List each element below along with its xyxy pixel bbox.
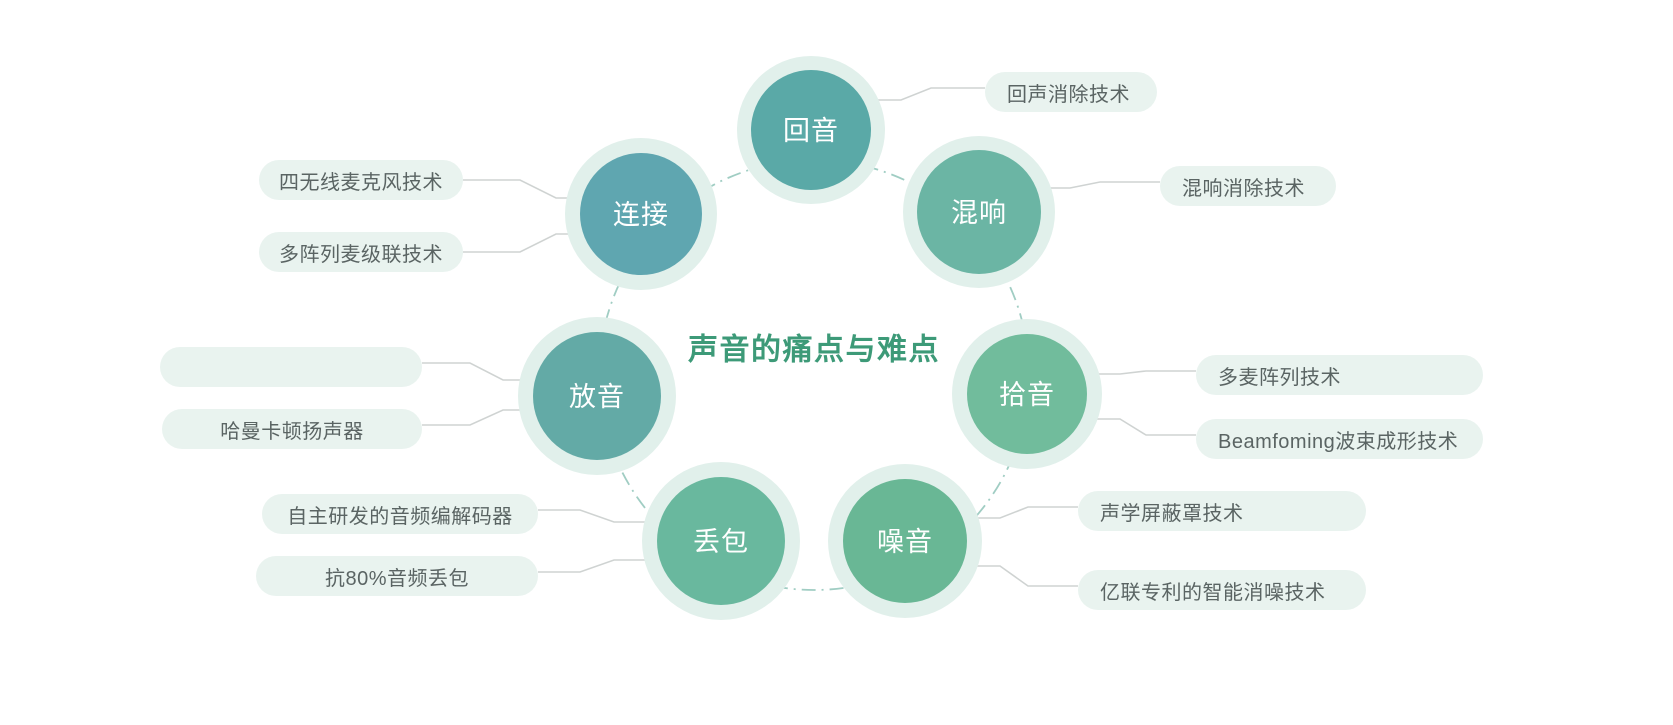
conn-mic-array [1086, 371, 1196, 374]
conn-dereverb [1035, 182, 1160, 188]
conn-multi-array [463, 234, 582, 252]
conn-packet-loss-80 [538, 560, 660, 572]
conn-harman-kardon [422, 410, 536, 425]
node-label-playback: 放音 [569, 382, 625, 412]
node-label-packet-loss: 丢包 [693, 527, 749, 557]
conn-echo-cancel [865, 88, 985, 100]
node-label-connection: 连接 [613, 200, 669, 230]
leaf-label-mic-array[interactable]: 多麦阵列技术 [1196, 355, 1483, 395]
topic-node-playback[interactable]: 放音 [518, 317, 676, 475]
node-label-noise: 噪音 [877, 527, 933, 557]
topic-node-pickup[interactable]: 拾音 [952, 319, 1102, 469]
leaf-label-yealink-denoise[interactable]: 亿联专利的智能消噪技术 [1078, 570, 1366, 610]
diagram-canvas: 回音混响拾音噪音丢包放音连接 声音的痛点与难点 回声消除技术混响消除技术多麦阵列… [0, 0, 1673, 725]
topic-node-connection[interactable]: 连接 [565, 138, 717, 290]
leaf-label-multi-array-cascade[interactable]: 多阵列麦级联技术 [259, 232, 463, 272]
leaf-label-acoustic-shield[interactable]: 声学屏蔽罩技术 [1078, 491, 1366, 531]
leaf-label-echo-cancel[interactable]: 回声消除技术 [985, 72, 1157, 112]
leaf-label-playback-blank[interactable] [160, 347, 422, 387]
topic-node-packet-loss[interactable]: 丢包 [642, 462, 800, 620]
conn-yealink-denoise [966, 566, 1078, 586]
node-label-echo: 回音 [783, 116, 839, 146]
leaf-label-harman-kardon[interactable]: 哈曼卡顿扬声器 [162, 409, 422, 449]
topic-node-echo[interactable]: 回音 [737, 56, 885, 204]
topic-node-noise[interactable]: 噪音 [828, 464, 982, 618]
leaf-label-beamforming[interactable]: Beamfoming波束成形技术 [1196, 419, 1483, 459]
leaf-label-packet-loss-80[interactable]: 抗80%音频丢包 [256, 556, 538, 596]
center-title: 声音的痛点与难点 [688, 334, 940, 367]
node-label-pickup: 拾音 [999, 380, 1055, 410]
leaf-label-four-wireless-mic[interactable]: 四无线麦克风技术 [259, 160, 463, 200]
conn-beamforming [1086, 419, 1196, 435]
leaf-label-dereverb[interactable]: 混响消除技术 [1160, 166, 1336, 206]
conn-playback-blank [422, 363, 536, 380]
node-label-reverb: 混响 [951, 198, 1007, 228]
leaf-label-audio-codec[interactable]: 自主研发的音频编解码器 [262, 494, 538, 534]
conn-audio-codec [538, 510, 660, 522]
topic-node-reverb[interactable]: 混响 [903, 136, 1055, 288]
conn-four-wireless-mic [463, 180, 582, 198]
